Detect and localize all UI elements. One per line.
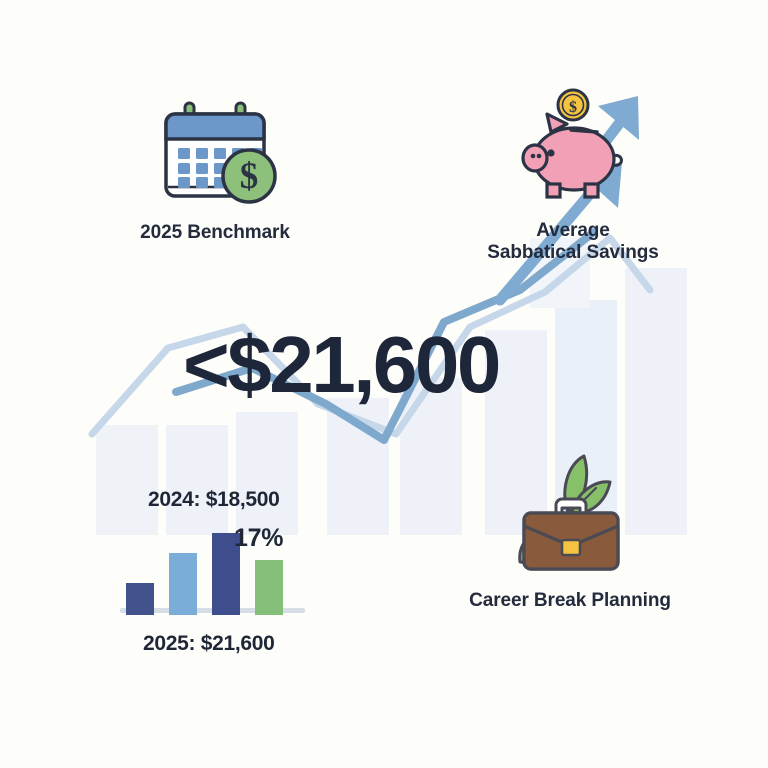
svg-text:$: $ <box>240 156 259 197</box>
calendar-benchmark-caption: 2025 Benchmark <box>140 222 290 244</box>
stat-growth-percent: 17% <box>234 524 283 553</box>
calendar-benchmark-block: $ 2025 Benchmark <box>95 100 335 244</box>
infographic-canvas: <$21,600 2024: $18,500 17% 2025: $21,600 <box>0 0 768 768</box>
stat-previous-year: 2024: $18,500 <box>148 488 280 512</box>
briefcase-growth-icon <box>498 450 643 580</box>
savings-block: $ Average Sabbatical Savings <box>443 88 703 264</box>
mini-bar-3 <box>255 560 283 615</box>
mini-bar-1 <box>169 553 197 615</box>
headline-value: <$21,600 <box>183 325 499 405</box>
calendar-money-icon: $ <box>150 100 280 208</box>
piggy-bank-icon: $ <box>513 88 633 208</box>
career-break-caption: Career Break Planning <box>469 590 671 612</box>
career-break-block: Career Break Planning <box>430 450 710 612</box>
mini-bar-0 <box>126 583 154 615</box>
svg-text:$: $ <box>569 99 577 116</box>
savings-caption: Average Sabbatical Savings <box>487 220 658 264</box>
stat-current-year: 2025: $21,600 <box>143 632 275 656</box>
mini-bar-chart <box>118 515 318 615</box>
